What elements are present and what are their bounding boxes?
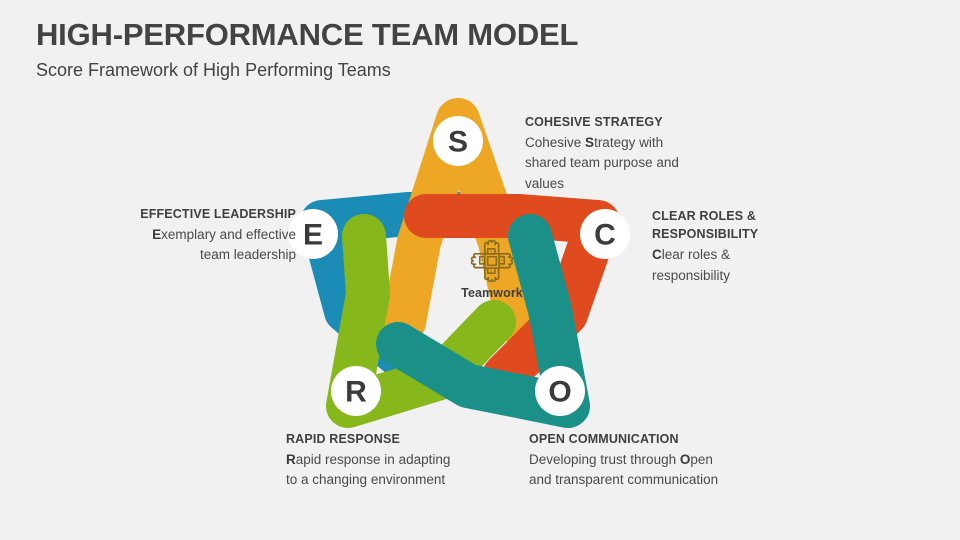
callout-body-rest: lear roles & responsibility — [652, 247, 730, 282]
teamwork-hands-icon — [469, 238, 515, 284]
callout-body: Exemplary and effective team leadership — [126, 225, 296, 266]
callout-body: Rapid response in adapting to a changing… — [286, 450, 461, 491]
star-letter-o: O — [548, 376, 571, 409]
center-teamwork-mark: Teamwork — [440, 238, 544, 300]
callout-body-initial: O — [680, 452, 691, 467]
callout-heading: EFFECTIVE LEADERSHIP — [126, 205, 296, 223]
callout-body-initial: C — [652, 247, 662, 262]
callout-heading: COHESIVE STRATEGY — [525, 113, 693, 131]
star-point-roles[interactable]: C — [580, 209, 630, 259]
callout-heading: OPEN COMMUNICATION — [529, 430, 719, 448]
callout-rapid-response: RAPID RESPONSE Rapid response in adaptin… — [286, 430, 461, 491]
callout-effective-leadership: EFFECTIVE LEADERSHIP Exemplary and effec… — [126, 205, 296, 266]
callout-body: Clear roles & responsibility — [652, 245, 802, 286]
callout-body-rest: xemplary and effective team leadership — [161, 227, 296, 262]
page-subtitle: Score Framework of High Performing Teams — [36, 60, 391, 81]
star-point-strategy[interactable]: S — [433, 116, 483, 166]
callout-cohesive-strategy: COHESIVE STRATEGY Cohesive Strategy with… — [525, 113, 693, 194]
callout-clear-roles: CLEAR ROLES & RESPONSIBILITY Clear roles… — [652, 207, 802, 286]
star-letter-r: R — [345, 376, 367, 409]
callout-body-rest: apid response in adapting to a changing … — [286, 452, 450, 487]
star-letter-s: S — [448, 126, 468, 159]
teamwork-label: Teamwork — [440, 286, 544, 300]
star-letter-e: E — [303, 219, 323, 252]
callout-open-communication: OPEN COMMUNICATION Developing trust thro… — [529, 430, 719, 491]
callout-heading: RAPID RESPONSE — [286, 430, 461, 448]
star-point-response[interactable]: R — [331, 366, 381, 416]
star-point-communication[interactable]: O — [535, 366, 585, 416]
slide-canvas: HIGH-PERFORMANCE TEAM MODEL Score Framew… — [0, 0, 960, 540]
callout-body: Developing trust through Open and transp… — [529, 450, 719, 491]
callout-heading: CLEAR ROLES & RESPONSIBILITY — [652, 207, 802, 243]
callout-body-lead: Developing trust through — [529, 452, 680, 467]
callout-body-lead: Cohesive — [525, 135, 585, 150]
callout-body-initial: R — [286, 452, 296, 467]
star-letter-c: C — [594, 219, 616, 252]
callout-body-initial: E — [152, 227, 161, 242]
callout-body: Cohesive Strategy with shared team purpo… — [525, 133, 693, 194]
callout-body-initial: S — [585, 135, 594, 150]
page-title: HIGH-PERFORMANCE TEAM MODEL — [36, 17, 578, 53]
